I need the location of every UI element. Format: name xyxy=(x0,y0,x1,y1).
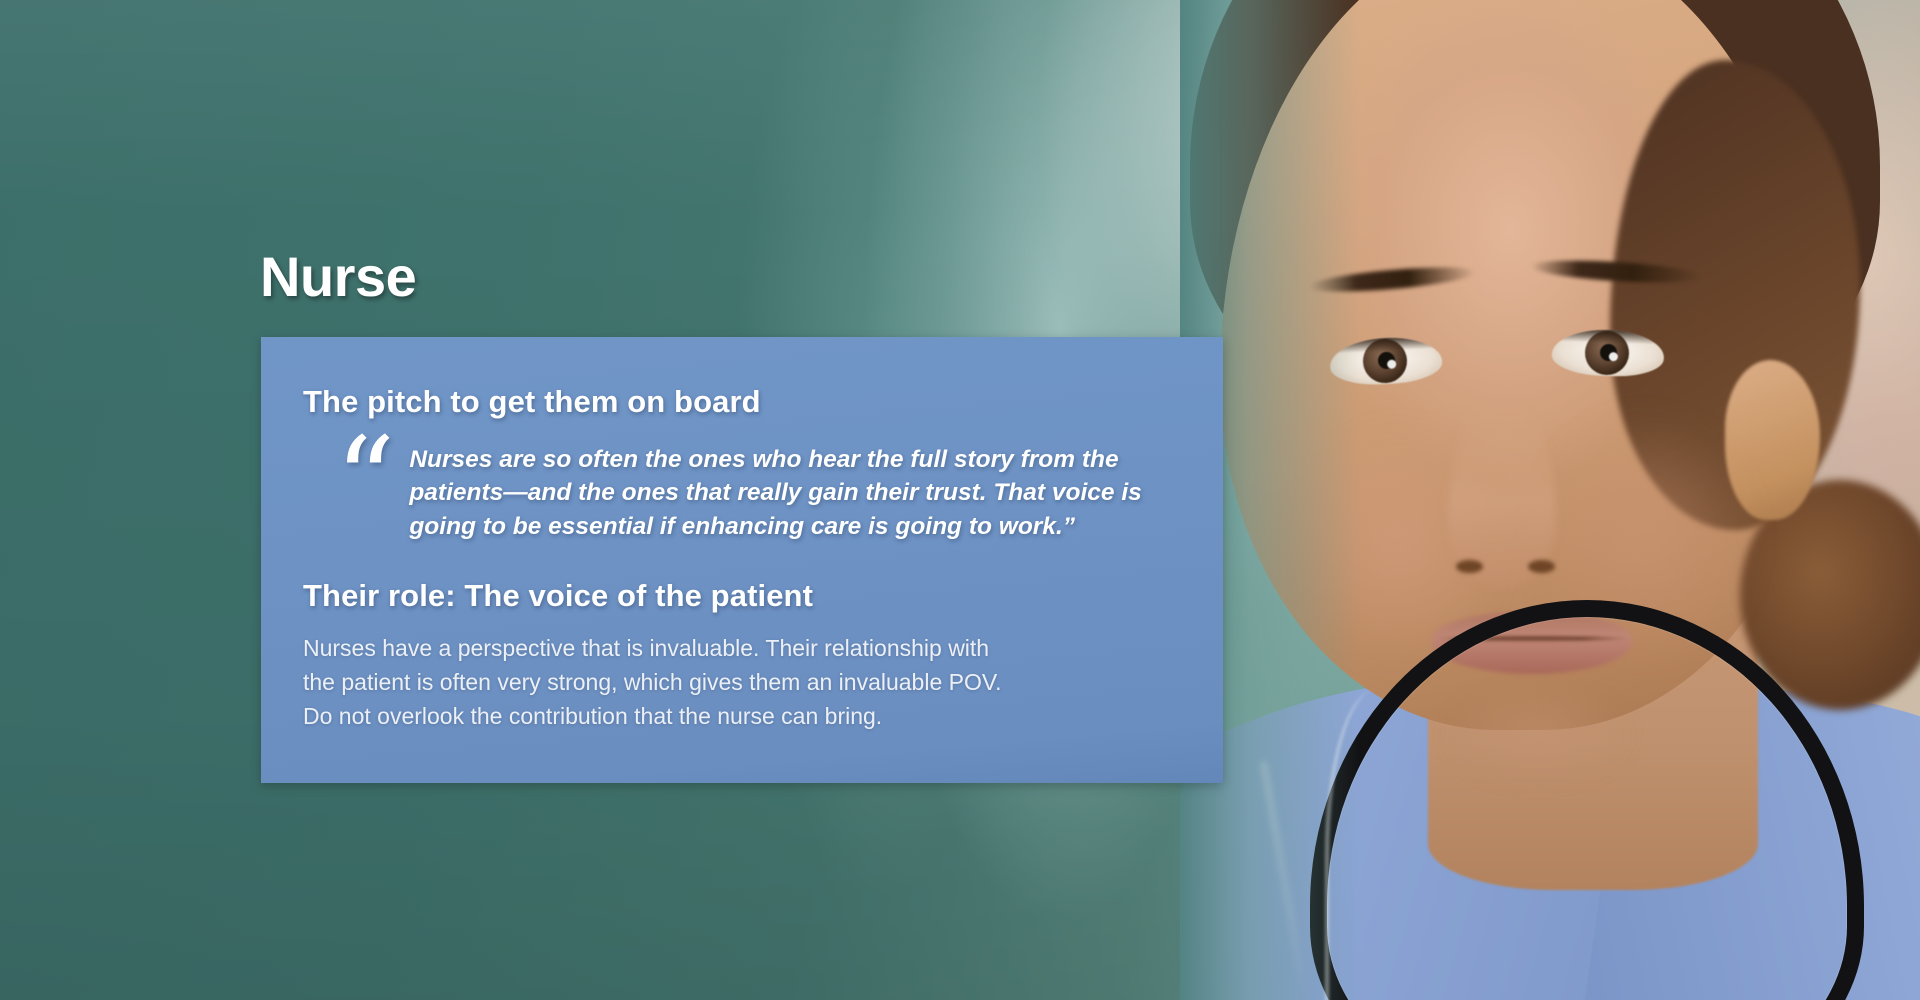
eye-glint-left xyxy=(1387,359,1396,368)
nostril-left xyxy=(1456,560,1483,573)
page-title: Nurse xyxy=(260,249,416,305)
persona-card: The pitch to get them on board “ Nurses … xyxy=(261,337,1223,783)
role-description-line: the patient is often very strong, which … xyxy=(303,665,1181,699)
pitch-heading: The pitch to get them on board xyxy=(303,385,1181,419)
role-description-line: Do not overlook the contribution that th… xyxy=(303,699,1181,733)
quote-block: “ Nurses are so often the ones who hear … xyxy=(303,433,1181,543)
role-description: Nurses have a perspective that is invalu… xyxy=(303,631,1181,733)
role-description-line: Nurses have a perspective that is invalu… xyxy=(303,631,1181,665)
quote-text: Nurses are so often the ones who hear th… xyxy=(409,433,1169,543)
nurse-portrait-photo xyxy=(1180,0,1920,1000)
role-heading: Their role: The voice of the patient xyxy=(303,579,1181,613)
eye-glint-right xyxy=(1609,352,1618,361)
pupil-left xyxy=(1378,352,1396,370)
pupil-right xyxy=(1600,344,1618,362)
quotation-mark-icon: “ xyxy=(335,437,395,524)
nostril-right xyxy=(1528,560,1555,573)
slide: Nurse The pitch to get them on board “ N… xyxy=(0,0,1920,1000)
